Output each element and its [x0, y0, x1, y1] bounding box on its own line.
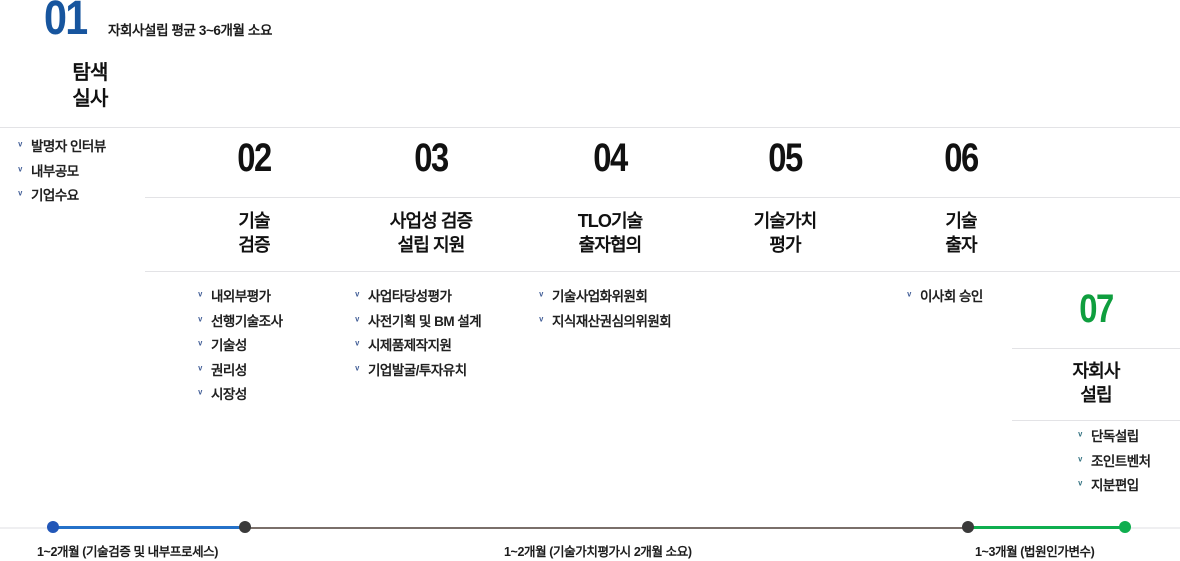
chevron-down-icon: ᵛ	[903, 291, 915, 302]
stage-title-line2: 출자협의	[531, 233, 689, 257]
explore-title-line1: 탐색	[42, 60, 138, 86]
list-item[interactable]: ᵛ 지식재산권심의위원회	[535, 315, 671, 329]
list-item[interactable]: ᵛ 선행기술조사	[194, 315, 283, 329]
timeline-segment-1	[53, 526, 249, 529]
stage-title-line2: 출자	[882, 233, 1040, 257]
list-item-label: 내부공모	[31, 165, 79, 179]
explore-item-list: ᵛ 발명자 인터뷰 ᵛ 내부공모 ᵛ 기업수요	[14, 140, 144, 214]
list-item-label: 권리성	[211, 364, 247, 378]
stage-title-line2: 설립 지원	[352, 233, 510, 257]
divider-above-stage-titles	[145, 197, 1180, 198]
chevron-down-icon: ᵛ	[1074, 456, 1086, 467]
stage-title-line1: 기술가치	[706, 209, 864, 233]
list-item[interactable]: ᵛ 발명자 인터뷰	[14, 140, 144, 154]
explore-title: 탐색 실사	[42, 60, 138, 113]
chevron-down-icon: ᵛ	[1074, 431, 1086, 442]
timeline-dot-start[interactable]	[47, 521, 59, 533]
stage-number-07: 07	[1027, 288, 1165, 331]
stage-bullets-04: ᵛ 기술사업화위원회 ᵛ 지식재산권심의위원회	[535, 290, 671, 328]
chevron-down-icon: ᵛ	[535, 291, 547, 302]
step-01-caption: 자회사설립 평균 3~6개월 소요	[108, 19, 272, 39]
chevron-down-icon: ᵛ	[351, 291, 363, 302]
stage-item-list-04: ᵛ 기술사업화위원회 ᵛ 지식재산권심의위원회	[535, 290, 671, 339]
stage-number-02: 02	[189, 137, 319, 180]
stage-title-line1: 자회사	[1012, 359, 1180, 383]
list-item[interactable]: ᵛ 내외부평가	[194, 290, 283, 304]
list-item-label: 선행기술조사	[211, 315, 283, 329]
list-item[interactable]: ᵛ 내부공모	[14, 165, 144, 179]
stage-bullets-03: ᵛ 사업타당성평가 ᵛ 사전기획 및 BM 설계 ᵛ 시제품제작지원 ᵛ 기업발…	[351, 290, 481, 377]
list-item[interactable]: ᵛ 기술성	[194, 339, 283, 353]
list-item-label: 조인트벤처	[1091, 455, 1151, 469]
chevron-down-icon: ᵛ	[194, 316, 206, 327]
chevron-down-icon: ᵛ	[194, 291, 206, 302]
process-timeline-diagram: 01 자회사설립 평균 3~6개월 소요 탐색 실사 ᵛ 발명자 인터뷰 ᵛ 내…	[0, 0, 1180, 561]
chevron-down-icon: ᵛ	[194, 365, 206, 376]
list-item-label: 내외부평가	[211, 290, 271, 304]
list-item-label: 사전기획 및 BM 설계	[368, 315, 481, 329]
stage-item-list-02: ᵛ 내외부평가 ᵛ 선행기술조사 ᵛ 기술성 ᵛ 권리성 ᵛ 시장성	[194, 290, 283, 413]
divider-above-final-title	[1012, 348, 1180, 349]
list-item-label: 기술성	[211, 339, 247, 353]
stage-title-02: 기술 검증	[175, 209, 333, 257]
list-item-label: 지분편입	[1091, 479, 1139, 493]
list-item-label: 사업타당성평가	[368, 290, 451, 304]
list-item-label: 기업발굴/투자유치	[368, 364, 467, 378]
list-item[interactable]: ᵛ 단독설립	[1074, 430, 1151, 444]
stage-bullets-06: ᵛ 이사회 승인	[903, 290, 983, 304]
list-item-label: 기업수요	[31, 189, 79, 203]
chevron-down-icon: ᵛ	[351, 365, 363, 376]
list-item-label: 발명자 인터뷰	[31, 140, 106, 154]
list-item[interactable]: ᵛ 권리성	[194, 364, 283, 378]
list-item[interactable]: ᵛ 기술사업화위원회	[535, 290, 671, 304]
divider-top	[0, 127, 1180, 128]
list-item-label: 시제품제작지원	[368, 339, 451, 353]
stage-title-04: TLO기술 출자협의	[531, 209, 689, 257]
list-item[interactable]: ᵛ 사업타당성평가	[351, 290, 481, 304]
stage-title-line1: TLO기술	[531, 209, 689, 233]
stage-number-04: 04	[545, 137, 675, 180]
explore-title-line2: 실사	[42, 86, 138, 112]
chevron-down-icon: ᵛ	[14, 190, 26, 201]
stage-title-03: 사업성 검증 설립 지원	[352, 209, 510, 257]
timeline-label-3: 1~3개월 (법원인가변수)	[975, 541, 1094, 560]
timeline-segment-3	[968, 526, 1129, 529]
list-item[interactable]: ᵛ 이사회 승인	[903, 290, 983, 304]
timeline-dot-mid-2[interactable]	[962, 521, 974, 533]
stage-bullets-07: ᵛ 단독설립 ᵛ 조인트벤처 ᵛ 지분편입	[1074, 430, 1151, 493]
stage-item-list-07: ᵛ 단독설립 ᵛ 조인트벤처 ᵛ 지분편입	[1074, 430, 1151, 504]
stage-title-05: 기술가치 평가	[706, 209, 864, 257]
explore-bullets: ᵛ 발명자 인터뷰 ᵛ 내부공모 ᵛ 기업수요	[14, 140, 144, 203]
chevron-down-icon: ᵛ	[14, 166, 26, 177]
stage-title-line2: 검증	[175, 233, 333, 257]
timeline-dot-end[interactable]	[1119, 521, 1131, 533]
stage-title-line1: 사업성 검증	[352, 209, 510, 233]
stage-number-06: 06	[896, 137, 1026, 180]
chevron-down-icon: ᵛ	[194, 389, 206, 400]
list-item[interactable]: ᵛ 기업발굴/투자유치	[351, 364, 481, 378]
stage-item-list-06: ᵛ 이사회 승인	[903, 290, 983, 315]
stage-item-list-03: ᵛ 사업타당성평가 ᵛ 사전기획 및 BM 설계 ᵛ 시제품제작지원 ᵛ 기업발…	[351, 290, 481, 388]
list-item-label: 시장성	[211, 388, 247, 402]
timeline-label-2: 1~2개월 (기술가치평가시 2개월 소요)	[504, 541, 692, 560]
list-item-label: 단독설립	[1091, 430, 1139, 444]
list-item[interactable]: ᵛ 지분편입	[1074, 479, 1151, 493]
stage-number-03: 03	[366, 137, 496, 180]
list-item[interactable]: ᵛ 사전기획 및 BM 설계	[351, 315, 481, 329]
list-item-label: 기술사업화위원회	[552, 290, 647, 304]
stage-title-line1: 기술	[882, 209, 1040, 233]
list-item-label: 이사회 승인	[920, 290, 983, 304]
stage-title-06: 기술 출자	[882, 209, 1040, 257]
stage-title-line2: 평가	[706, 233, 864, 257]
divider-below-stage-titles	[145, 271, 1180, 272]
chevron-down-icon: ᵛ	[351, 340, 363, 351]
chevron-down-icon: ᵛ	[194, 340, 206, 351]
timeline-segment-middle	[245, 527, 974, 529]
list-item[interactable]: ᵛ 조인트벤처	[1074, 455, 1151, 469]
list-item[interactable]: ᵛ 시장성	[194, 388, 283, 402]
chevron-down-icon: ᵛ	[1074, 480, 1086, 491]
chevron-down-icon: ᵛ	[14, 141, 26, 152]
chevron-down-icon: ᵛ	[535, 316, 547, 327]
stage-bullets-02: ᵛ 내외부평가 ᵛ 선행기술조사 ᵛ 기술성 ᵛ 권리성 ᵛ 시장성	[194, 290, 283, 402]
list-item-label: 지식재산권심의위원회	[552, 315, 671, 329]
chevron-down-icon: ᵛ	[351, 316, 363, 327]
step-01-number: 01	[44, 0, 86, 45]
stage-title-07: 자회사 설립	[1012, 359, 1180, 407]
timeline-dot-mid-1[interactable]	[239, 521, 251, 533]
stage-title-line2: 설립	[1012, 383, 1180, 407]
stage-title-line1: 기술	[175, 209, 333, 233]
divider-below-final-title	[1012, 420, 1180, 421]
timeline-label-1: 1~2개월 (기술검증 및 내부프로세스)	[37, 541, 218, 560]
list-item[interactable]: ᵛ 시제품제작지원	[351, 339, 481, 353]
list-item[interactable]: ᵛ 기업수요	[14, 189, 144, 203]
stage-number-05: 05	[720, 137, 850, 180]
